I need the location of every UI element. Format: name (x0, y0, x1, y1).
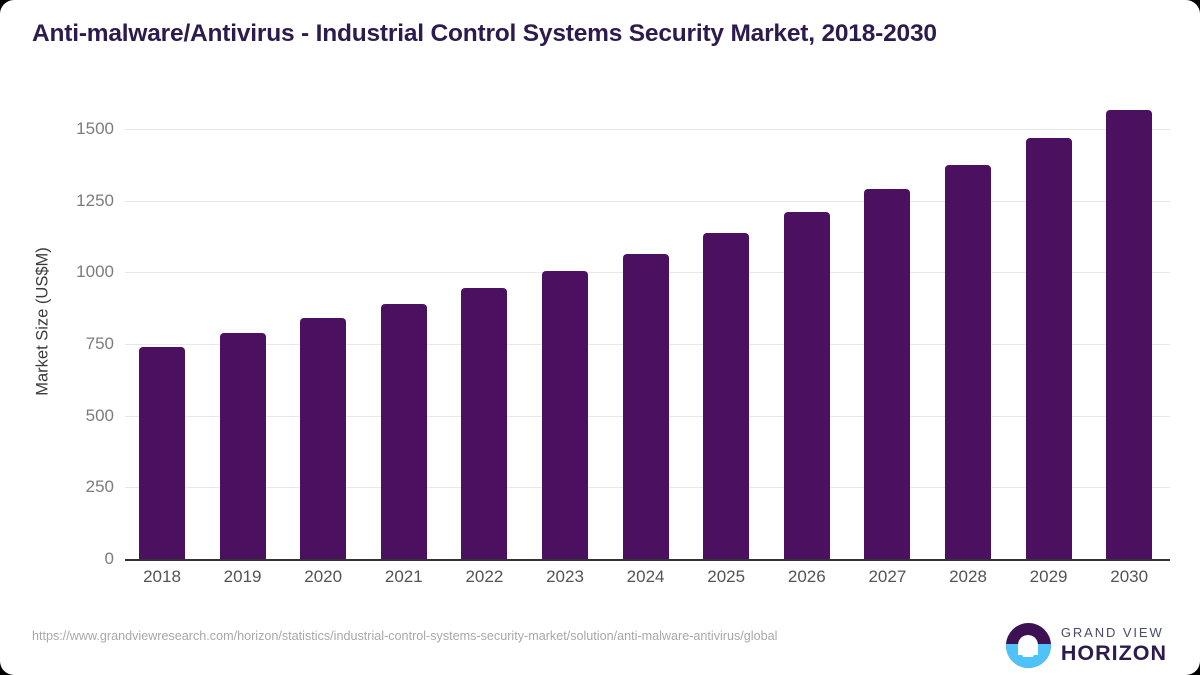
y-axis-ticks: 0250500750100012501500 (44, 0, 114, 600)
bar-2024[interactable] (623, 254, 669, 559)
x-tick-label: 2018 (119, 567, 205, 587)
bar-2019[interactable] (220, 333, 266, 559)
x-tick-label: 2026 (764, 567, 850, 587)
x-tick-label: 2027 (844, 567, 930, 587)
bar-2030[interactable] (1106, 110, 1152, 559)
bar-2022[interactable] (461, 288, 507, 559)
x-tick-label: 2022 (441, 567, 527, 587)
y-tick-label: 250 (44, 477, 114, 497)
logo-ray-top (1020, 649, 1037, 652)
bar-2029[interactable] (1026, 138, 1072, 559)
chart-canvas: Anti-malware/Antivirus - Industrial Cont… (0, 0, 1200, 675)
x-tick-label: 2025 (683, 567, 769, 587)
sunrise-circle-icon (1006, 623, 1051, 668)
bar-2025[interactable] (703, 233, 749, 559)
x-tick-label: 2024 (603, 567, 689, 587)
bar-2023[interactable] (542, 271, 588, 559)
logo-dome-shape (1018, 635, 1038, 655)
y-tick-label: 1500 (44, 119, 114, 139)
bar-2027[interactable] (864, 189, 910, 559)
x-tick-label: 2021 (361, 567, 447, 587)
x-tick-label: 2028 (925, 567, 1011, 587)
x-tick-label: 2029 (1006, 567, 1092, 587)
y-tick-label: 1250 (44, 191, 114, 211)
logo-brand-top: GRAND VIEW (1061, 626, 1167, 639)
bar-2028[interactable] (945, 165, 991, 559)
y-tick-label: 0 (44, 549, 114, 569)
bar-2021[interactable] (381, 304, 427, 559)
source-url[interactable]: https://www.grandviewresearch.com/horizo… (32, 628, 922, 645)
logo-wordmark: GRAND VIEW HORIZON (1061, 626, 1167, 665)
bar-2020[interactable] (300, 318, 346, 559)
x-tick-label: 2020 (280, 567, 366, 587)
bar-2018[interactable] (139, 347, 185, 559)
brand-logo: GRAND VIEW HORIZON (1006, 622, 1167, 668)
y-tick-label: 500 (44, 406, 114, 426)
logo-ray-bottom (1023, 654, 1034, 657)
x-tick-label: 2019 (200, 567, 286, 587)
y-tick-label: 750 (44, 334, 114, 354)
bar-2026[interactable] (784, 212, 830, 559)
logo-brand-bottom: HORIZON (1061, 643, 1167, 665)
x-tick-label: 2023 (522, 567, 608, 587)
x-tick-label: 2030 (1086, 567, 1172, 587)
y-tick-label: 1000 (44, 262, 114, 282)
bar-series (125, 0, 1170, 560)
plot-area: Market Size (US$M) 025050075010001250150… (0, 0, 1200, 600)
